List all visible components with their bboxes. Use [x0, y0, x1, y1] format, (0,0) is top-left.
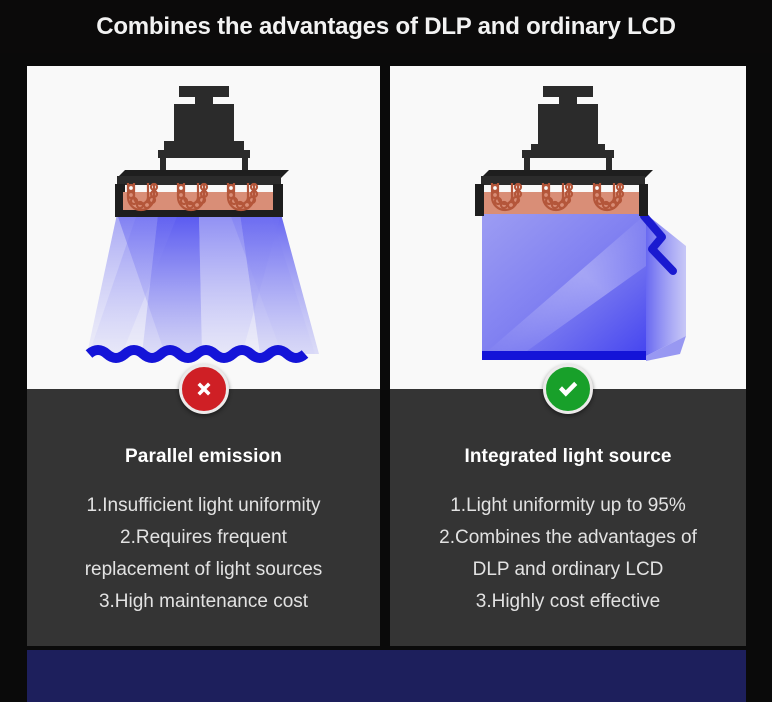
- list-item: 2.Combines the advantages of: [398, 522, 738, 554]
- page-header: Combines the advantages of DLP and ordin…: [0, 0, 772, 53]
- panel-list-parallel-emission: 1.Insufficient light uniformity 2.Requir…: [27, 490, 380, 618]
- light-beams: [87, 214, 319, 354]
- mount-bar: [117, 170, 289, 185]
- list-item: 1.Insufficient light uniformity: [35, 490, 372, 522]
- list-item: 2.Requires frequent: [35, 522, 372, 554]
- check-circle-icon: [543, 364, 593, 414]
- list-item: 3.Highly cost effective: [398, 586, 738, 618]
- panel-title-integrated-light-source: Integrated light source: [464, 446, 671, 468]
- comparison-columns: Parallel emission 1.Insufficient light u…: [27, 66, 746, 646]
- page-title: Combines the advantages of DLP and ordin…: [96, 13, 676, 41]
- integrated-light-source-illustration: [390, 66, 746, 389]
- panel-title-parallel-emission: Parallel emission: [125, 446, 282, 468]
- list-item: 1.Light uniformity up to 95%: [398, 490, 738, 522]
- bottom-accent-band: [27, 650, 746, 702]
- cross-glyph: [191, 376, 217, 402]
- integrated-light-source-text: Integrated light source 1.Light uniformi…: [390, 389, 746, 646]
- machine-head: [522, 86, 614, 178]
- parallel-emission-diagram: [27, 66, 380, 389]
- mount-bar: [481, 170, 653, 185]
- list-item: DLP and ordinary LCD: [398, 554, 738, 586]
- uneven-projection-line: [89, 350, 305, 358]
- parallel-emission-illustration: [27, 66, 380, 389]
- panel-list-integrated-light-source: 1.Light uniformity up to 95% 2.Combines …: [390, 490, 746, 618]
- list-item: 3.High maintenance cost: [35, 586, 372, 618]
- parallel-emission-text: Parallel emission 1.Insufficient light u…: [27, 389, 380, 646]
- uniform-light-block: [482, 214, 686, 361]
- check-glyph: [554, 375, 582, 403]
- panel-parallel-emission: Parallel emission 1.Insufficient light u…: [27, 66, 380, 646]
- list-item: replacement of light sources: [35, 554, 372, 586]
- machine-head: [158, 86, 250, 178]
- integrated-light-source-diagram: [390, 66, 746, 389]
- panel-integrated-light-source: Integrated light source 1.Light uniformi…: [390, 66, 746, 646]
- cross-circle-icon: [179, 364, 229, 414]
